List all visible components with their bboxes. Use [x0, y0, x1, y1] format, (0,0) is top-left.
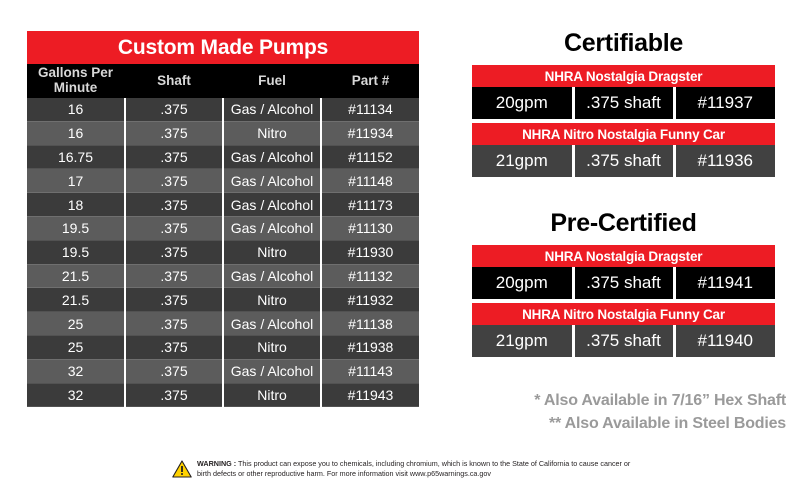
table-row: 17 .375 Gas / Alcohol #11148 [27, 169, 419, 193]
cell-part: #11932 [321, 288, 419, 312]
cell-fuel: Gas / Alcohol [223, 312, 321, 336]
cell-gpm: 18 [27, 193, 125, 217]
table-row: 21.5 .375 Gas / Alcohol #11132 [27, 264, 419, 288]
table-row: 20gpm .375 shaft #11941 [472, 267, 775, 299]
cell-fuel: Gas / Alcohol [223, 98, 321, 121]
cell-gpm: 21gpm [472, 325, 573, 357]
cell-part: #11941 [674, 267, 775, 299]
table-row: 20gpm .375 shaft #11937 [472, 87, 775, 119]
precertified-section: Pre-Certified NHRA Nostalgia Dragster 20… [472, 208, 775, 357]
cell-fuel: Nitro [223, 121, 321, 145]
table-row: 19.5 .375 Gas / Alcohol #11130 [27, 216, 419, 240]
cell-shaft: .375 [125, 359, 223, 383]
cell-fuel: Gas / Alcohol [223, 359, 321, 383]
cell-gpm: 19.5 [27, 240, 125, 264]
certifiable-section: Certifiable NHRA Nostalgia Dragster 20gp… [472, 28, 775, 177]
cell-shaft: .375 shaft [573, 87, 674, 119]
cell-fuel: Nitro [223, 240, 321, 264]
main-table-title: Custom Made Pumps [27, 31, 419, 64]
cell-part: #11130 [321, 216, 419, 240]
certifiable-banner-row-2: NHRA Nitro Nostalgia Funny Car [472, 123, 775, 145]
table-row: 25 .375 Gas / Alcohol #11138 [27, 312, 419, 336]
cell-part: #11943 [321, 383, 419, 407]
certifiable-heading: Certifiable [472, 28, 775, 58]
table-row: 32 .375 Gas / Alcohol #11143 [27, 359, 419, 383]
cell-fuel: Gas / Alcohol [223, 193, 321, 217]
banner-nhra-nitro-nostalgia-funny-car: NHRA Nitro Nostalgia Funny Car [472, 123, 775, 145]
cell-part: #11148 [321, 169, 419, 193]
table-row: 16 .375 Nitro #11934 [27, 121, 419, 145]
banner-nhra-nostalgia-dragster: NHRA Nostalgia Dragster [472, 65, 775, 87]
custom-made-pumps-table: Custom Made Pumps Gallons Per Minute Sha… [27, 31, 419, 407]
cell-fuel: Nitro [223, 335, 321, 359]
cell-gpm: 16.75 [27, 145, 125, 169]
footnote-hex-shaft: * Also Available in 7/16” Hex Shaft [466, 390, 786, 413]
cell-gpm: 21gpm [472, 145, 573, 177]
cell-shaft: .375 [125, 335, 223, 359]
column-header-gallons-per-minute: Gallons Per Minute [27, 64, 125, 98]
precertified-banner-row-2: NHRA Nitro Nostalgia Funny Car [472, 303, 775, 325]
warning-body: This product can expose you to chemicals… [197, 459, 630, 478]
cell-gpm: 20gpm [472, 267, 573, 299]
cell-shaft: .375 shaft [573, 267, 674, 299]
main-table-header-row: Gallons Per Minute Shaft Fuel Part # [27, 64, 419, 98]
cell-gpm: 21.5 [27, 288, 125, 312]
table-row: 16 .375 Gas / Alcohol #11134 [27, 98, 419, 121]
cell-part: #11134 [321, 98, 419, 121]
cell-shaft: .375 [125, 288, 223, 312]
cell-part: #11940 [674, 325, 775, 357]
cell-shaft: .375 [125, 264, 223, 288]
cell-gpm: 32 [27, 359, 125, 383]
column-header-fuel: Fuel [223, 64, 321, 98]
table-row: 32 .375 Nitro #11943 [27, 383, 419, 407]
table-row: 21.5 .375 Nitro #11932 [27, 288, 419, 312]
cell-part: #11937 [674, 87, 775, 119]
table-row: 25 .375 Nitro #11938 [27, 335, 419, 359]
cell-gpm: 32 [27, 383, 125, 407]
cell-part: #11152 [321, 145, 419, 169]
cell-shaft: .375 [125, 121, 223, 145]
cell-shaft: .375 [125, 98, 223, 121]
cell-shaft: .375 [125, 383, 223, 407]
precertified-heading: Pre-Certified [472, 208, 775, 238]
cell-part: #11934 [321, 121, 419, 145]
warning-text: WARNING : This product can expose you to… [197, 459, 642, 480]
cell-shaft: .375 [125, 312, 223, 336]
cell-fuel: Nitro [223, 383, 321, 407]
cell-part: #11132 [321, 264, 419, 288]
cell-gpm: 21.5 [27, 264, 125, 288]
table-row: 16.75 .375 Gas / Alcohol #11152 [27, 145, 419, 169]
banner-nhra-nitro-nostalgia-funny-car: NHRA Nitro Nostalgia Funny Car [472, 303, 775, 325]
cell-fuel: Gas / Alcohol [223, 264, 321, 288]
prop65-warning: WARNING : This product can expose you to… [172, 459, 642, 483]
table-row: 18 .375 Gas / Alcohol #11173 [27, 193, 419, 217]
cell-fuel: Nitro [223, 288, 321, 312]
cell-shaft: .375 [125, 169, 223, 193]
certifiable-banner-row-1: NHRA Nostalgia Dragster [472, 65, 775, 87]
cell-shaft: .375 shaft [573, 145, 674, 177]
cell-fuel: Gas / Alcohol [223, 145, 321, 169]
warning-label: WARNING : [197, 459, 236, 468]
cell-part: #11143 [321, 359, 419, 383]
cell-part: #11936 [674, 145, 775, 177]
cell-gpm: 25 [27, 312, 125, 336]
cell-fuel: Gas / Alcohol [223, 216, 321, 240]
cell-shaft: .375 [125, 145, 223, 169]
cell-gpm: 16 [27, 98, 125, 121]
table-row: 21gpm .375 shaft #11940 [472, 325, 775, 357]
cell-gpm: 17 [27, 169, 125, 193]
main-table-title-row: Custom Made Pumps [27, 31, 419, 64]
cell-part: #11138 [321, 312, 419, 336]
precertified-table: NHRA Nostalgia Dragster 20gpm .375 shaft… [472, 245, 775, 357]
cell-gpm: 16 [27, 121, 125, 145]
cell-gpm: 20gpm [472, 87, 573, 119]
cell-part: #11173 [321, 193, 419, 217]
column-header-shaft: Shaft [125, 64, 223, 98]
cell-fuel: Gas / Alcohol [223, 169, 321, 193]
cell-shaft: .375 shaft [573, 325, 674, 357]
cell-part: #11938 [321, 335, 419, 359]
cell-gpm: 19.5 [27, 216, 125, 240]
cell-part: #11930 [321, 240, 419, 264]
precertified-banner-row-1: NHRA Nostalgia Dragster [472, 245, 775, 267]
table-row: 19.5 .375 Nitro #11930 [27, 240, 419, 264]
footnote-steel-bodies: ** Also Available in Steel Bodies [466, 413, 786, 436]
certifiable-table: NHRA Nostalgia Dragster 20gpm .375 shaft… [472, 65, 775, 177]
cell-shaft: .375 [125, 216, 223, 240]
table-row: 21gpm .375 shaft #11936 [472, 145, 775, 177]
cell-gpm: 25 [27, 335, 125, 359]
cell-shaft: .375 [125, 240, 223, 264]
footnotes: * Also Available in 7/16” Hex Shaft ** A… [466, 390, 786, 435]
cell-shaft: .375 [125, 193, 223, 217]
warning-triangle-icon [172, 460, 192, 483]
banner-nhra-nostalgia-dragster: NHRA Nostalgia Dragster [472, 245, 775, 267]
column-header-part-number: Part # [321, 64, 419, 98]
